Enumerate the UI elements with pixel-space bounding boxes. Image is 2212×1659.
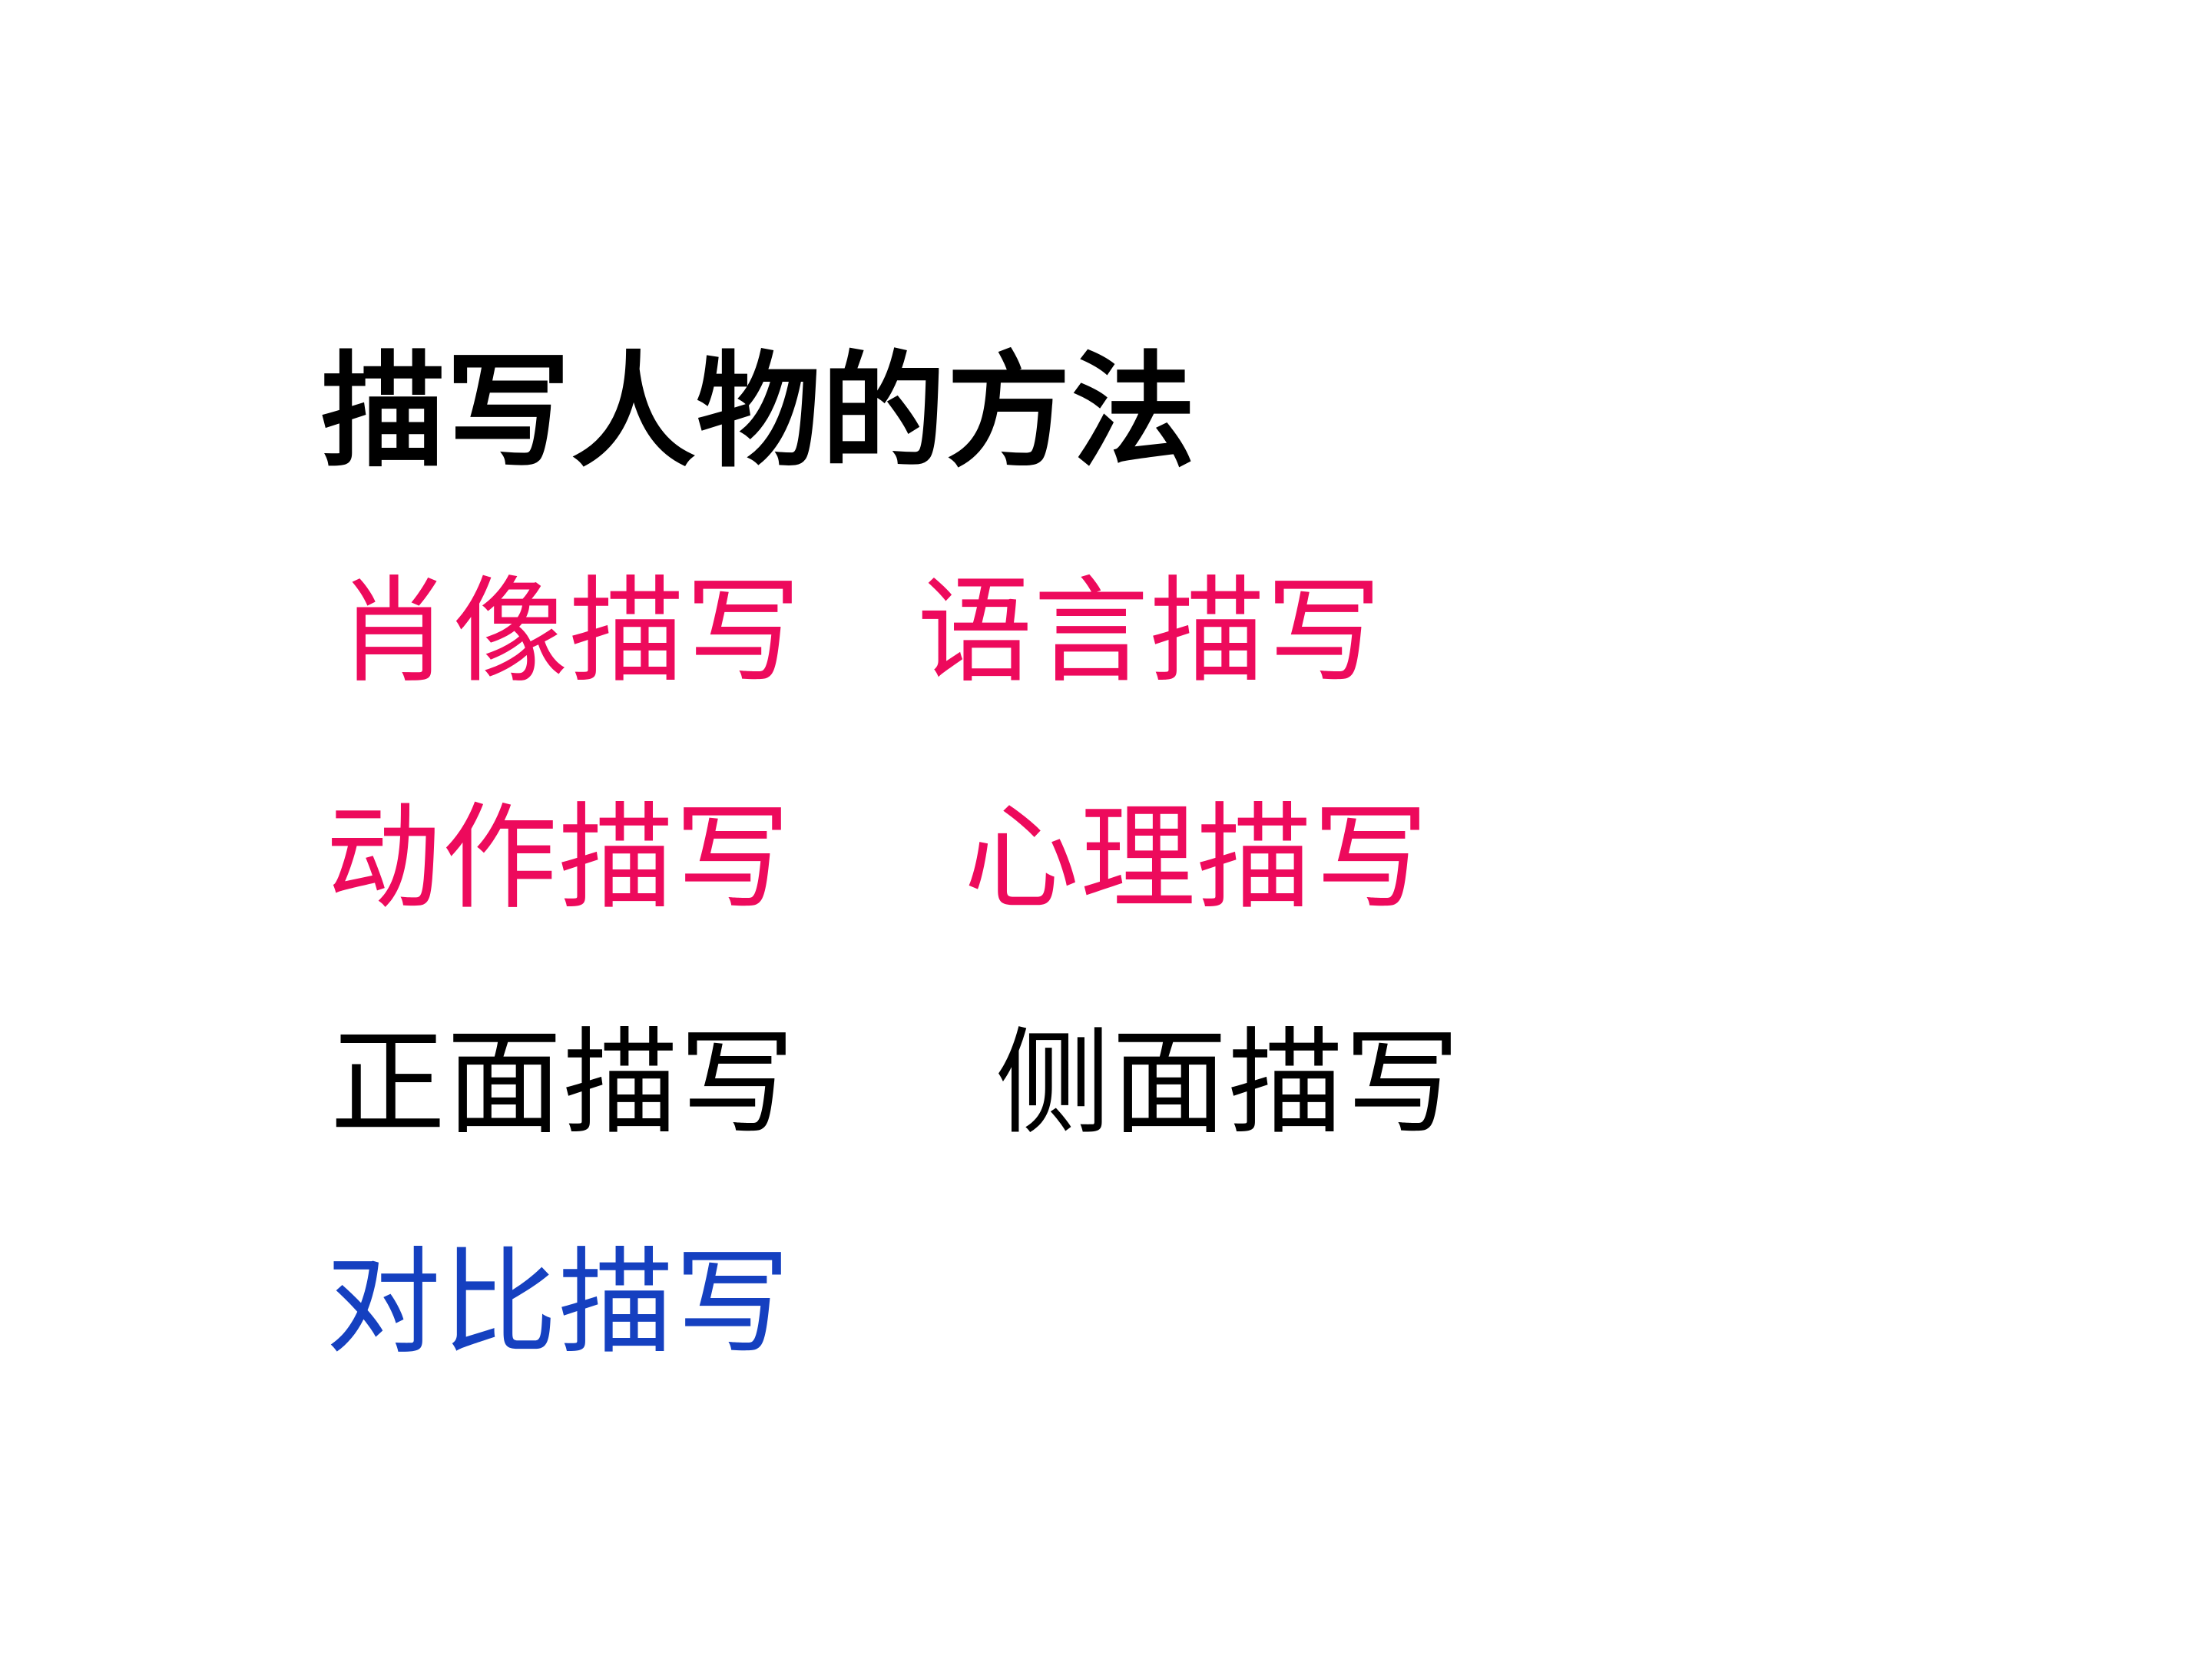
method-row-contrast: 对比描写 [326,1246,791,1361]
method-item-portrait-description: 肖像描写 [336,565,802,699]
method-item-front-description: 正面描写 [330,1017,796,1151]
presentation-slide: 描写人物的方法 肖像描写语言描写 动作描写心理描写 正面描写侧面描写 对比描写 [0,0,2212,1659]
method-item-language-description: 语言描写 [917,565,1382,699]
method-item-contrast-description: 对比描写 [326,1237,791,1370]
method-item-side-description: 侧面描写 [995,1017,1461,1151]
method-row-action-psychology: 动作描写心理描写 [326,801,1429,916]
method-row-portrait-language: 肖像描写语言描写 [336,575,1382,690]
slide-title: 描写人物的方法 [321,349,1197,474]
method-item-psychological-description: 心理描写 [964,792,1429,926]
method-item-action-description: 动作描写 [326,792,791,926]
method-row-front-side: 正面描写侧面描写 [330,1026,1461,1141]
